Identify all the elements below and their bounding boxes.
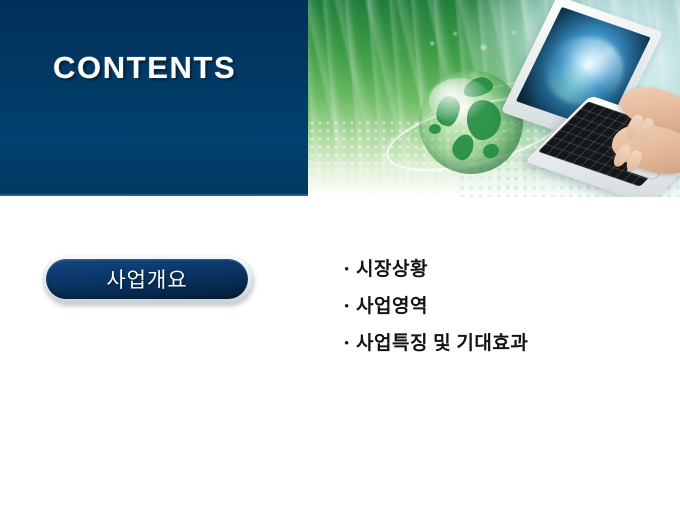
globe-landmass — [429, 124, 441, 134]
title-panel: CONTENTS — [0, 0, 308, 196]
slide-canvas: CONTENTS — [0, 0, 680, 510]
bullet-list: • 시장상황 • 사업영역 • 사업특징 및 기대효과 — [344, 259, 644, 370]
header-band: CONTENTS — [0, 0, 680, 197]
slide-body: 사업개요 • 시장상황 • 사업영역 • 사업특징 및 기대효과 — [0, 197, 680, 510]
list-item[interactable]: • 사업특징 및 기대효과 — [344, 333, 644, 355]
section-button-inner: 사업개요 — [46, 259, 248, 299]
list-item[interactable]: • 사업영역 — [344, 296, 644, 318]
list-item-label: 사업특징 및 기대효과 — [356, 333, 528, 355]
banner-photo — [308, 0, 680, 197]
bullet-marker-icon: • — [344, 296, 356, 318]
section-button-label: 사업개요 — [106, 264, 187, 294]
bullet-marker-icon: • — [344, 333, 356, 355]
bullet-marker-icon: • — [344, 259, 356, 281]
laptop-icon — [516, 4, 680, 194]
list-item-label: 사업영역 — [356, 296, 428, 318]
list-item-label: 시장상황 — [356, 259, 428, 281]
globe-landmass — [481, 142, 501, 160]
globe-highlight — [429, 78, 491, 124]
section-button-business-overview[interactable]: 사업개요 — [42, 255, 252, 303]
page-title: CONTENTS — [53, 50, 236, 86]
globe-icon — [419, 70, 523, 174]
list-item[interactable]: • 시장상황 — [344, 259, 644, 281]
